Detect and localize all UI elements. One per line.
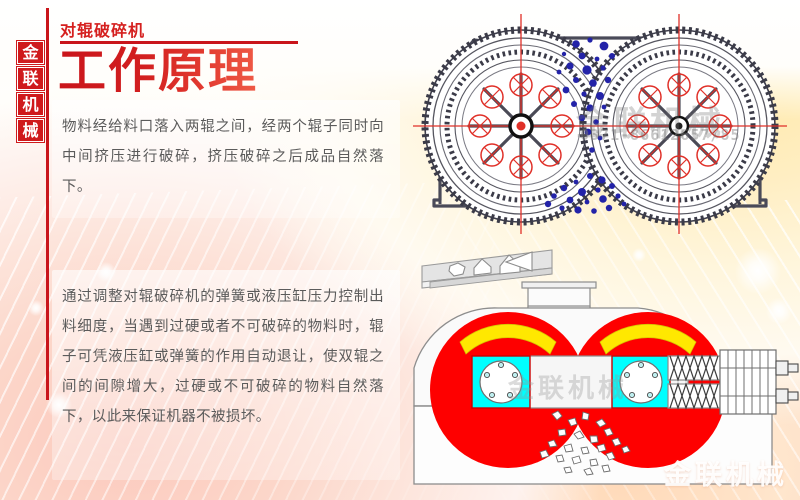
adjustment-frame	[720, 350, 798, 414]
header-kicker: 对辊破碎机	[60, 17, 145, 41]
left-accent-rule	[46, 8, 49, 400]
adjusting-bolt	[776, 361, 798, 403]
glow-spot	[28, 300, 44, 316]
crusher-cutaway-diagram	[400, 238, 800, 496]
logo-char: 联	[16, 66, 45, 91]
logo-char: 金	[16, 40, 45, 65]
bearing-block-right	[612, 356, 670, 408]
logo-char: 械	[16, 118, 45, 143]
bearing-block-left	[472, 356, 530, 408]
body-paragraph: 通过调整对辊破碎机的弹簧或液压缸压力控制出料细度，当遇到过硬或者不可破碎的物料时…	[62, 282, 384, 432]
logo-char: 机	[16, 92, 45, 117]
slide-canvas: 金 联 机 械 对辊破碎机 工作原理 物料经给料口落入两辊之间，经两个辊子同时向…	[0, 0, 800, 500]
body-paragraph: 物料经给料口落入两辊之间，经两个辊子同时向中间挤压进行破碎，挤压破碎之后成品自然…	[62, 112, 384, 202]
brand-logo: 金 联 机 械	[16, 40, 43, 144]
crusher-schematic-diagram	[404, 4, 796, 234]
page-title: 工作原理	[58, 44, 258, 98]
